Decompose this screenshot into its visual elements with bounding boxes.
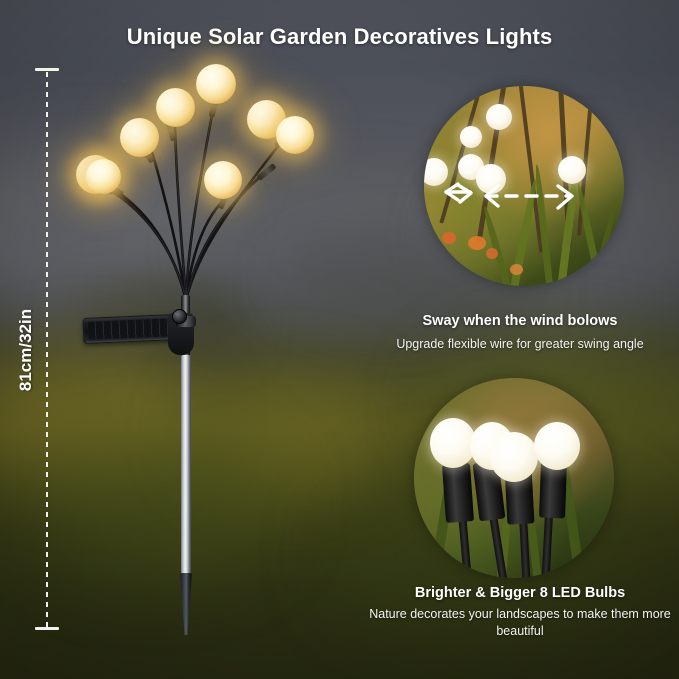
led-bulb [120,118,159,157]
solar-panel [82,314,179,344]
feature-heading-sway: Sway when the wind bolows [370,313,670,329]
led-bulb [534,422,580,470]
feature-image-bulbs [414,378,614,578]
feature-subtext-sway: Upgrade flexible wire for greater swing … [368,336,672,353]
bulb-socket [442,463,474,523]
feature-heading-bulbs: Brighter & Bigger 8 LED Bulbs [370,585,670,601]
led-bulb [490,432,538,482]
feature-image-sway [424,86,624,286]
stainless-steel-pole [181,355,191,580]
bulb-socket [539,462,567,519]
ground-stake [180,573,192,635]
product-marketing-image: Unique Solar Garden Decoratives Lights 8… [0,0,679,679]
led-bulb [276,116,314,154]
product-illustration [0,0,360,679]
flexible-wires [0,0,360,360]
feature-subtext-bulbs: Nature decorates your landscapes to make… [368,606,672,639]
led-bulb [204,161,242,199]
led-bulb [86,159,121,194]
led-bulb [196,64,236,104]
led-bulb [156,88,195,127]
dashed-double-arrow-icon [424,86,624,286]
bracket-adjust-knob [172,309,187,324]
